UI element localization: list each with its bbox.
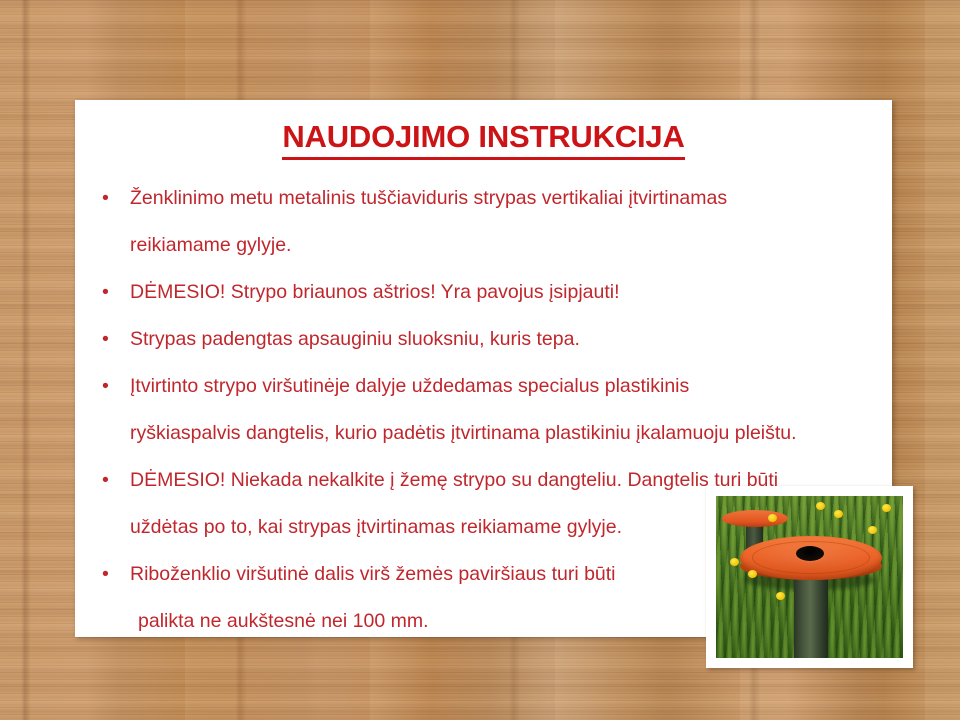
bullet-icon: • — [102, 457, 109, 504]
flower-icon — [768, 514, 777, 522]
flower-icon — [730, 558, 739, 566]
list-item: •DĖMESIO! Strypo briaunos aštrios! Yra p… — [89, 269, 889, 316]
list-item: •Įtvirtinto strypo viršutinėje dalyje už… — [89, 363, 889, 457]
list-item-line: reikiamame gylyje. — [130, 222, 889, 269]
bullet-icon: • — [102, 363, 109, 410]
list-item: •Ženklinimo metu metalinis tuščiaviduris… — [89, 175, 889, 269]
list-item: •Strypas padengtas apsauginiu sluoksniu,… — [89, 316, 889, 363]
list-item-line: DĖMESIO! Strypo briaunos aštrios! Yra pa… — [130, 269, 889, 316]
flower-icon — [748, 570, 757, 578]
flower-icon — [816, 502, 825, 510]
bullet-icon: • — [102, 316, 109, 363]
marker-photo-frame — [706, 486, 913, 668]
list-item-line: Ženklinimo metu metalinis tuščiaviduris … — [130, 175, 889, 222]
bullet-icon: • — [102, 269, 109, 316]
page-title: NAUDOJIMO INSTRUKCIJA — [75, 119, 892, 160]
slide-canvas: NAUDOJIMO INSTRUKCIJA •Ženklinimo metu m… — [0, 0, 960, 720]
page-title-text: NAUDOJIMO INSTRUKCIJA — [282, 119, 684, 160]
marker-cap-hole — [796, 546, 824, 561]
list-item-line: Įtvirtinto strypo viršutinėje dalyje užd… — [130, 363, 889, 410]
flower-icon — [776, 592, 785, 600]
list-item-line: Strypas padengtas apsauginiu sluoksniu, … — [130, 316, 889, 363]
marker-photo — [716, 496, 903, 658]
flower-icon — [882, 504, 891, 512]
flower-icon — [868, 526, 877, 534]
list-item-line: ryškiaspalvis dangtelis, kurio padėtis į… — [130, 410, 889, 457]
background-marker-cap — [722, 510, 788, 527]
flower-icon — [834, 510, 843, 518]
bullet-icon: • — [102, 551, 109, 598]
bullet-icon: • — [102, 175, 109, 222]
marker-post — [794, 574, 828, 658]
